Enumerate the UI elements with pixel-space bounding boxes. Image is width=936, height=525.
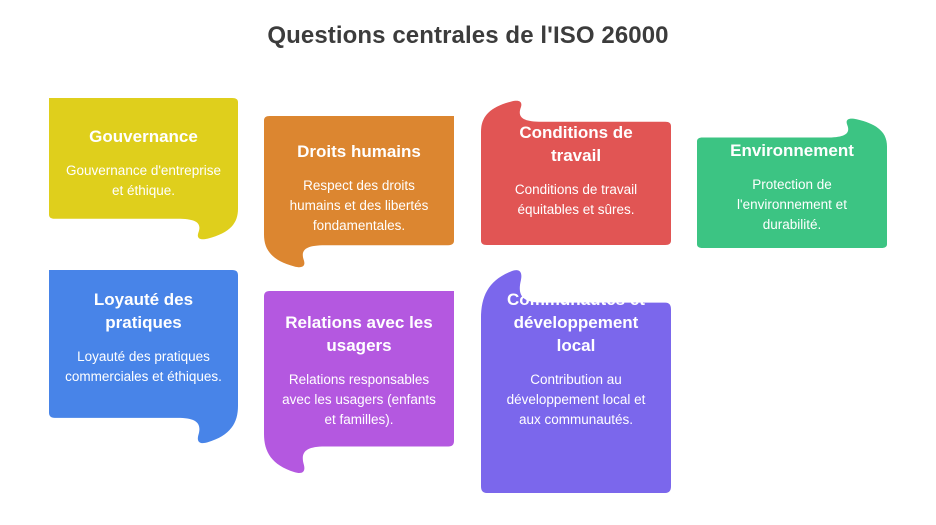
page-title: Questions centrales de l'ISO 26000: [0, 22, 936, 50]
card-title-conditions-de-travail: Conditions de travail: [495, 122, 657, 168]
card-environnement[interactable]: EnvironnementProtection de l'environneme…: [697, 118, 887, 248]
card-description-gouvernance: Gouvernance d'entreprise et éthique.: [63, 161, 224, 201]
card-relations-avec-les-usagers[interactable]: Relations avec les usagersRelations resp…: [264, 291, 454, 474]
card-content-gouvernance: GouvernanceGouvernance d'entreprise et é…: [49, 126, 238, 201]
card-title-environnement: Environnement: [711, 140, 873, 163]
card-content-communautes-et-developpement-local: Communautés et développement localContri…: [481, 289, 671, 430]
card-content-loyaute-des-pratiques: Loyauté des pratiquesLoyauté des pratiqu…: [49, 289, 238, 387]
card-description-droits-humains: Respect des droits humains et des libert…: [278, 176, 440, 236]
card-conditions-de-travail[interactable]: Conditions de travailConditions de trava…: [481, 100, 671, 245]
card-title-gouvernance: Gouvernance: [63, 126, 224, 149]
card-description-conditions-de-travail: Conditions de travail équitables et sûre…: [495, 180, 657, 220]
card-droits-humains[interactable]: Droits humainsRespect des droits humains…: [264, 116, 454, 268]
card-loyaute-des-pratiques[interactable]: Loyauté des pratiquesLoyauté des pratiqu…: [49, 270, 238, 444]
card-title-relations-avec-les-usagers: Relations avec les usagers: [278, 312, 440, 358]
card-description-relations-avec-les-usagers: Relations responsables avec les usagers …: [278, 370, 440, 430]
card-content-relations-avec-les-usagers: Relations avec les usagersRelations resp…: [264, 312, 454, 430]
card-title-communautes-et-developpement-local: Communautés et développement local: [495, 289, 657, 358]
infographic-canvas: Questions centrales de l'ISO 26000 Gouve…: [0, 0, 936, 525]
card-description-communautes-et-developpement-local: Contribution au développement local et a…: [495, 370, 657, 430]
card-title-loyaute-des-pratiques: Loyauté des pratiques: [63, 289, 224, 335]
card-gouvernance[interactable]: GouvernanceGouvernance d'entreprise et é…: [49, 98, 238, 240]
card-content-environnement: EnvironnementProtection de l'environneme…: [697, 140, 887, 235]
card-content-droits-humains: Droits humainsRespect des droits humains…: [264, 141, 454, 236]
card-content-conditions-de-travail: Conditions de travailConditions de trava…: [481, 122, 671, 220]
card-description-loyaute-des-pratiques: Loyauté des pratiques commerciales et ét…: [63, 347, 224, 387]
card-description-environnement: Protection de l'environnement et durabil…: [711, 175, 873, 235]
card-communautes-et-developpement-local[interactable]: Communautés et développement localContri…: [481, 269, 671, 493]
card-title-droits-humains: Droits humains: [278, 141, 440, 164]
